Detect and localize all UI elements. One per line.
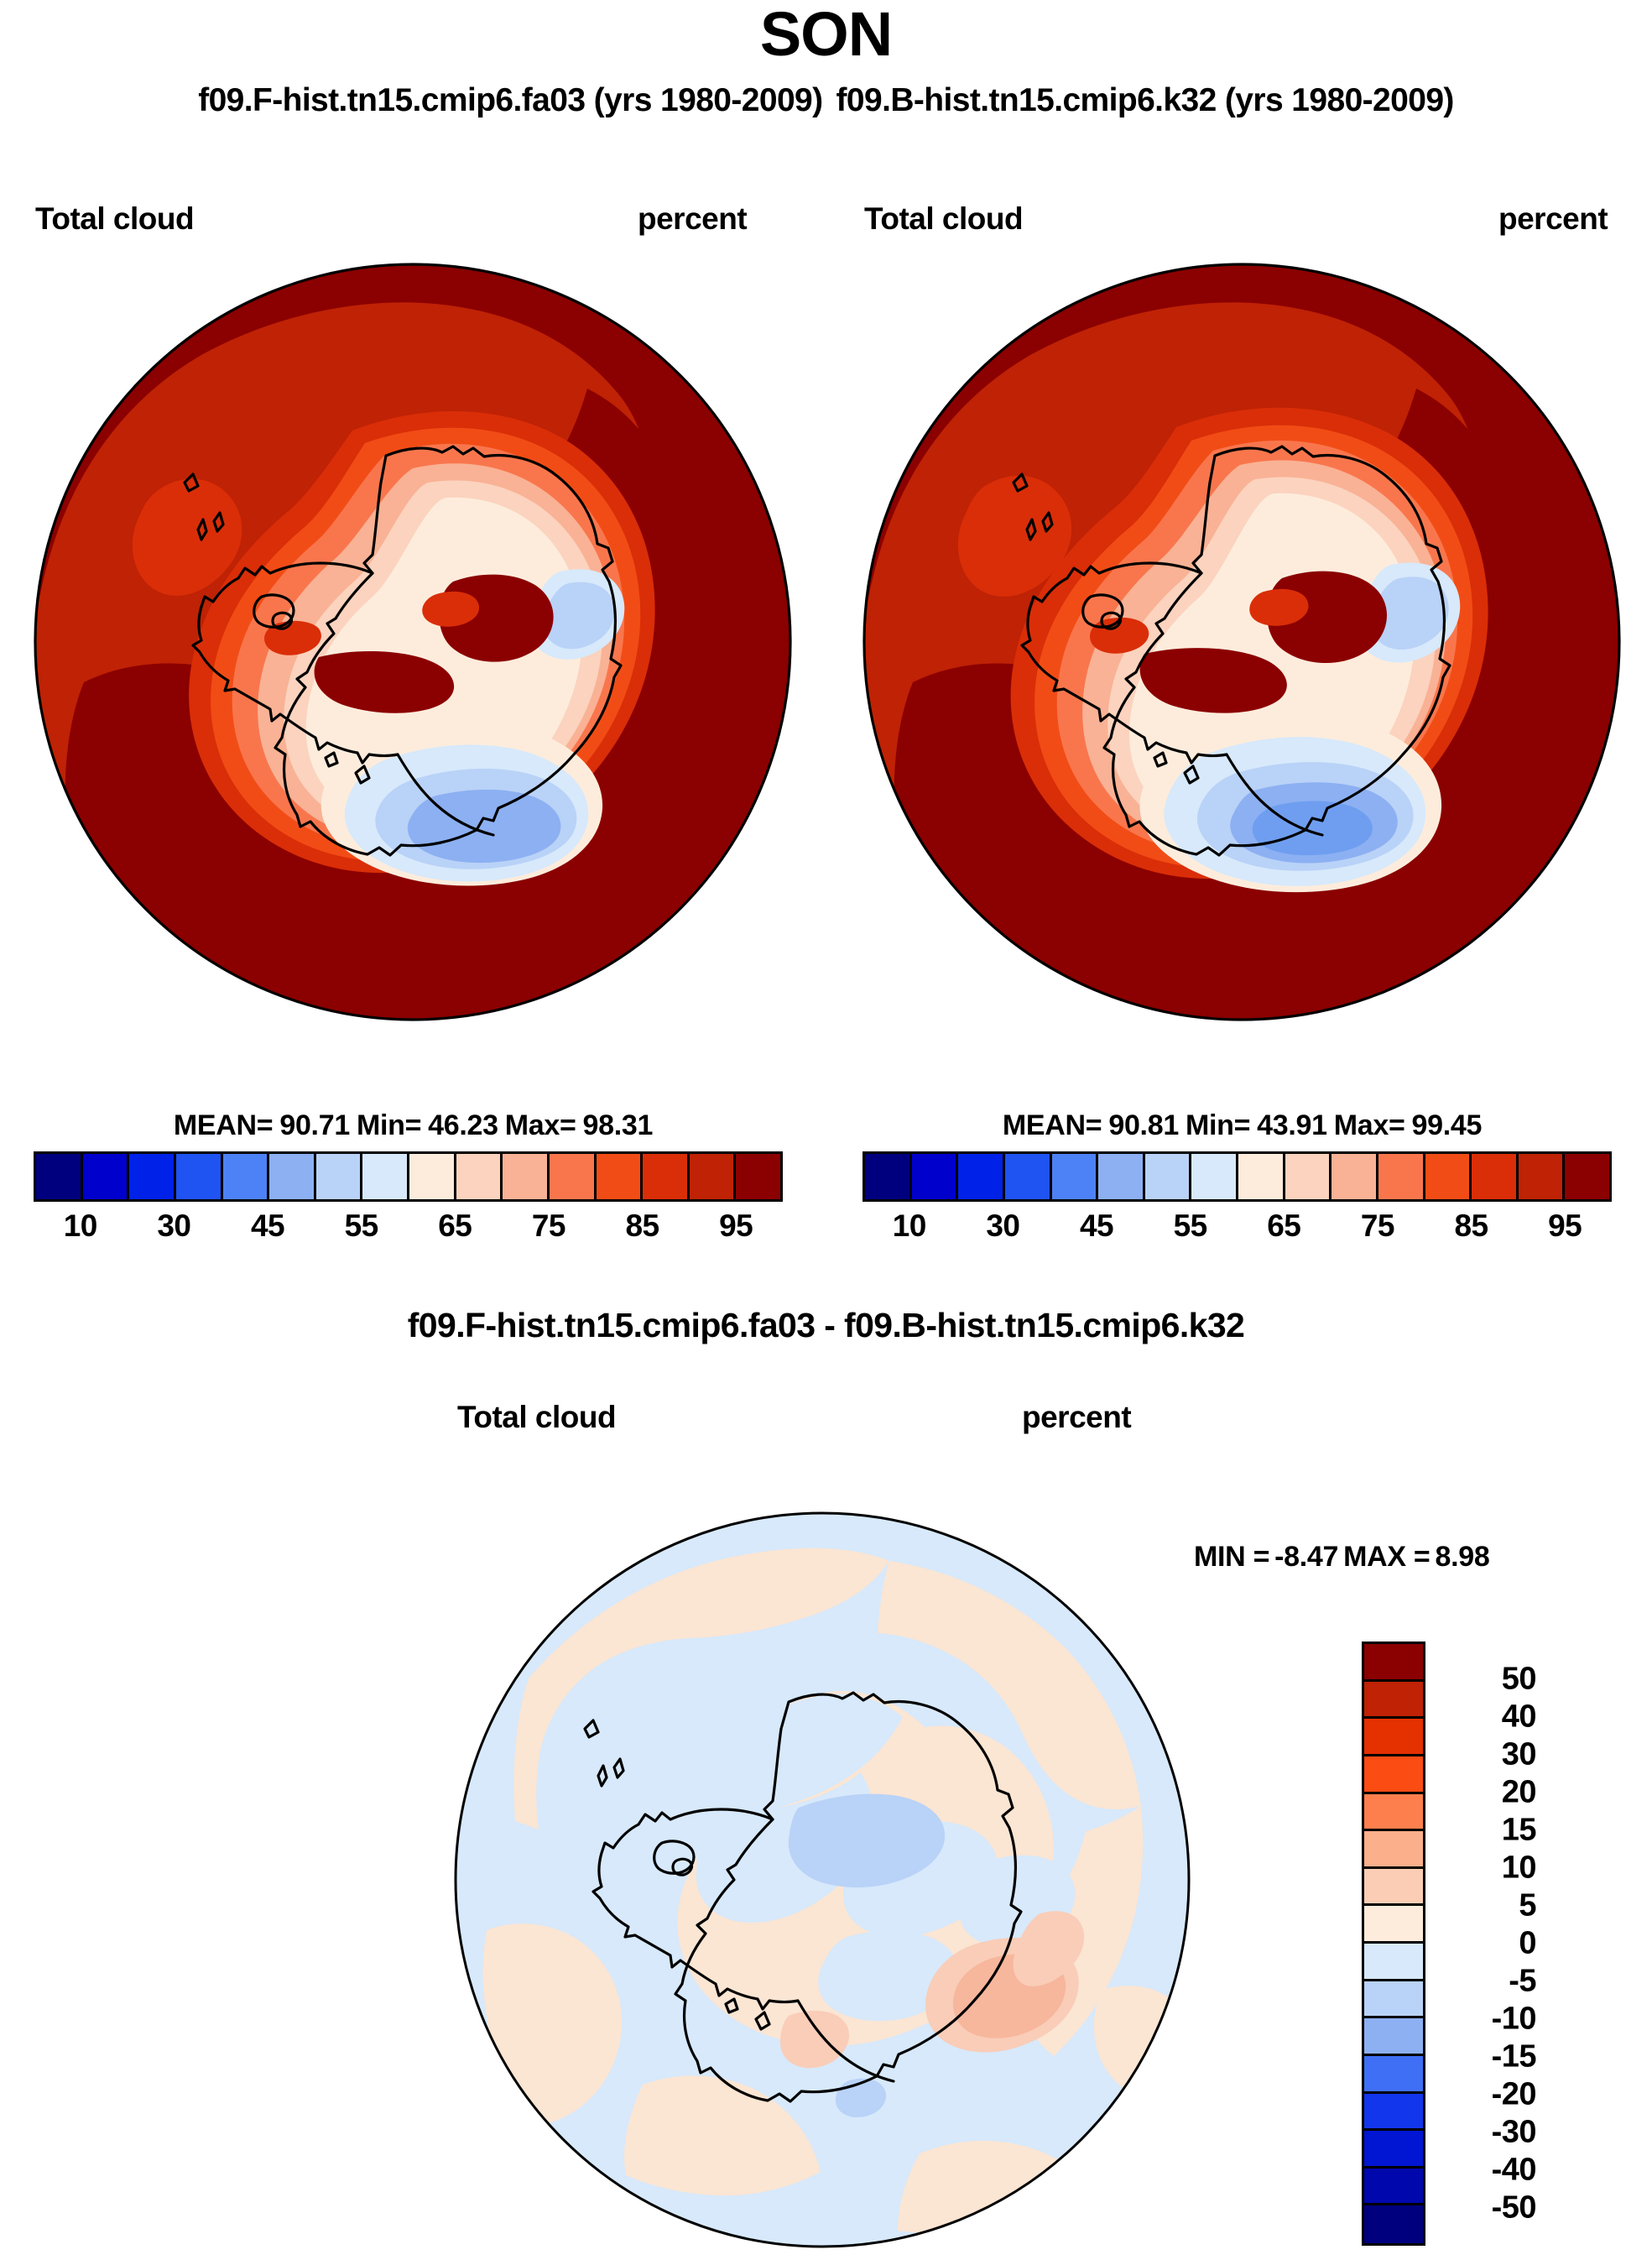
colorbar-cell bbox=[36, 1154, 83, 1199]
panel-a-mean-value: 90.71 bbox=[279, 1109, 350, 1141]
colorbar-tick-label: 30 bbox=[157, 1208, 190, 1244]
panel-b-max-value: 99.45 bbox=[1412, 1109, 1483, 1141]
colorbar-tick-label: -50 bbox=[1436, 2190, 1536, 2226]
colorbar-tick-label: 75 bbox=[1361, 1208, 1394, 1244]
colorbar-tick-label: 40 bbox=[1436, 1699, 1536, 1735]
colorbar-tick-label: 65 bbox=[1267, 1208, 1300, 1244]
colorbar-tick-label: 85 bbox=[625, 1208, 659, 1244]
colorbar-cell bbox=[1191, 1154, 1238, 1199]
panel-b-units-label: percent bbox=[1498, 201, 1608, 237]
colorbar-cell bbox=[1519, 1154, 1566, 1199]
colorbar-difference-ticks: 50403020151050-5-10-15-20-30-40-50 bbox=[1436, 1642, 1603, 2246]
colorbar-tick-label: 95 bbox=[719, 1208, 753, 1244]
colorbar-cell bbox=[1565, 1154, 1609, 1199]
colorbar-tick-label: 10 bbox=[64, 1208, 97, 1244]
colorbar-cell bbox=[1425, 1154, 1472, 1199]
colorbar-tick-label: -5 bbox=[1436, 1964, 1536, 2000]
colorbar-cell bbox=[1364, 1869, 1423, 1907]
colorbar-cell bbox=[129, 1154, 176, 1199]
case-a-title: f09.F-hist.tn15.cmip6.fa03 (yrs 1980-200… bbox=[198, 82, 822, 118]
colorbar-cell bbox=[1364, 1756, 1423, 1794]
colorbar-cell bbox=[409, 1154, 456, 1199]
colorbar-tick-label: 30 bbox=[1436, 1737, 1536, 1773]
colorbar-tick-label: 50 bbox=[1436, 1662, 1536, 1698]
panel-b-min-label: Min= bbox=[1186, 1109, 1250, 1141]
colorbar-tick-label: 65 bbox=[438, 1208, 472, 1244]
panel-b-max-label: Max= bbox=[1334, 1109, 1405, 1141]
panel-a-units-label: percent bbox=[638, 201, 747, 237]
colorbar-cell bbox=[1364, 2094, 1423, 2132]
colorbar-tick-label: 75 bbox=[532, 1208, 565, 1244]
colorbar-cell bbox=[912, 1154, 959, 1199]
colorbar-cell bbox=[1364, 1794, 1423, 1832]
difference-minmax: MIN =-8.47MAX =8.98 bbox=[1191, 1541, 1492, 1574]
colorbar-case-a-cells bbox=[34, 1151, 783, 1202]
diff-max-value: 8.98 bbox=[1435, 1541, 1489, 1573]
colorbar-cell bbox=[1052, 1154, 1099, 1199]
colorbar-cell bbox=[1005, 1154, 1052, 1199]
diff-variable-label: Total cloud bbox=[457, 1400, 616, 1435]
colorbar-tick-label: 15 bbox=[1436, 1813, 1536, 1849]
colorbar-cell bbox=[1098, 1154, 1145, 1199]
panel-b-stats: MEAN=90.81Min=43.91Max=99.45 bbox=[862, 1109, 1622, 1142]
map-case-b bbox=[862, 263, 1622, 1022]
colorbar-tick-label: 0 bbox=[1436, 1926, 1536, 1962]
colorbar-tick-label: -40 bbox=[1436, 2153, 1536, 2189]
colorbar-cell bbox=[1364, 1831, 1423, 1869]
map-case-a bbox=[34, 263, 793, 1022]
colorbar-tick-label: 45 bbox=[251, 1208, 284, 1244]
colorbar-cell bbox=[1364, 1682, 1423, 1720]
colorbar-cell bbox=[1364, 1906, 1423, 1944]
colorbar-cell bbox=[958, 1154, 1005, 1199]
colorbar-tick-label: 30 bbox=[986, 1208, 1019, 1244]
colorbar-tick-label: 10 bbox=[1436, 1850, 1536, 1887]
colorbar-cell bbox=[1472, 1154, 1519, 1199]
panel-a-mean-label: MEAN= bbox=[174, 1109, 273, 1141]
diff-min-label: MIN = bbox=[1194, 1541, 1269, 1573]
colorbar-cell bbox=[1364, 2018, 1423, 2056]
panel-a-max-value: 98.31 bbox=[583, 1109, 654, 1141]
colorbar-tick-label: 20 bbox=[1436, 1775, 1536, 1811]
colorbar-cell bbox=[269, 1154, 316, 1199]
diff-min-value: -8.47 bbox=[1274, 1541, 1338, 1573]
panel-b-mean-label: MEAN= bbox=[1003, 1109, 1102, 1141]
diff-max-label: MAX = bbox=[1343, 1541, 1430, 1573]
colorbar-cell bbox=[1364, 1981, 1423, 2019]
case-titles-row: f09.F-hist.tn15.cmip6.fa03 (yrs 1980-200… bbox=[0, 82, 1652, 119]
panel-a-min-value: 46.23 bbox=[428, 1109, 498, 1141]
colorbar-cell bbox=[1364, 2056, 1423, 2094]
colorbar-cell bbox=[83, 1154, 130, 1199]
colorbar-tick-label: 55 bbox=[345, 1208, 378, 1244]
difference-title: f09.F-hist.tn15.cmip6.fa03 - f09.B-hist.… bbox=[0, 1306, 1652, 1345]
colorbar-cell bbox=[1364, 1719, 1423, 1756]
colorbar-cell bbox=[176, 1154, 223, 1199]
colorbar-tick-label: 85 bbox=[1454, 1208, 1488, 1244]
colorbar-cell bbox=[1285, 1154, 1332, 1199]
panel-b-min-value: 43.91 bbox=[1257, 1109, 1327, 1141]
colorbar-cell bbox=[1364, 1944, 1423, 1981]
panel-a-variable-label: Total cloud bbox=[35, 201, 194, 237]
colorbar-cell bbox=[690, 1154, 737, 1199]
colorbar-cell bbox=[316, 1154, 363, 1199]
colorbar-cell bbox=[550, 1154, 597, 1199]
map-difference bbox=[453, 1511, 1191, 2249]
colorbar-cell bbox=[643, 1154, 690, 1199]
panel-a-min-label: Min= bbox=[357, 1109, 421, 1141]
colorbar-case-b-cells bbox=[862, 1151, 1612, 1202]
colorbar-cell bbox=[597, 1154, 644, 1199]
colorbar-tick-label: 45 bbox=[1080, 1208, 1113, 1244]
colorbar-cell bbox=[503, 1154, 550, 1199]
colorbar-cell bbox=[1238, 1154, 1285, 1199]
colorbar-case-a-ticks: 1030455565758595 bbox=[34, 1208, 783, 1249]
colorbar-cell bbox=[1364, 1644, 1423, 1682]
colorbar-tick-label: 10 bbox=[893, 1208, 926, 1244]
colorbar-case-b: 1030455565758595 bbox=[862, 1151, 1612, 1249]
colorbar-cell bbox=[1378, 1154, 1425, 1199]
colorbar-cell bbox=[1332, 1154, 1378, 1199]
colorbar-case-b-ticks: 1030455565758595 bbox=[862, 1208, 1612, 1249]
panel-a-stats: MEAN=90.71Min=46.23Max=98.31 bbox=[34, 1109, 793, 1142]
colorbar-tick-label: -15 bbox=[1436, 2039, 1536, 2075]
map-case-a-svg bbox=[34, 263, 793, 1022]
colorbar-cell bbox=[736, 1154, 780, 1199]
colorbar-cell bbox=[223, 1154, 270, 1199]
map-case-b-svg bbox=[862, 263, 1622, 1022]
colorbar-cell bbox=[1364, 2131, 1423, 2169]
colorbar-cell bbox=[456, 1154, 503, 1199]
colorbar-case-a: 1030455565758595 bbox=[34, 1151, 783, 1249]
panel-b-variable-label: Total cloud bbox=[864, 201, 1023, 237]
map-difference-svg bbox=[453, 1511, 1191, 2249]
colorbar-tick-label: 95 bbox=[1548, 1208, 1582, 1244]
colorbar-tick-label: 55 bbox=[1174, 1208, 1207, 1244]
page-title: SON bbox=[0, 2, 1652, 67]
colorbar-cell bbox=[362, 1154, 409, 1199]
colorbar-cell bbox=[1364, 2169, 1423, 2206]
colorbar-difference-cells bbox=[1362, 1642, 1425, 2246]
colorbar-tick-label: 5 bbox=[1436, 1888, 1536, 1924]
colorbar-cell bbox=[865, 1154, 912, 1199]
colorbar-difference: 50403020151050-5-10-15-20-30-40-50 bbox=[1362, 1642, 1639, 2251]
diff-units-label: percent bbox=[1022, 1400, 1131, 1435]
case-b-title: f09.B-hist.tn15.cmip6.k32 (yrs 1980-2009… bbox=[836, 82, 1454, 118]
panel-b-mean-value: 90.81 bbox=[1108, 1109, 1179, 1141]
colorbar-tick-label: -10 bbox=[1436, 2002, 1536, 2038]
colorbar-tick-label: -20 bbox=[1436, 2077, 1536, 2113]
colorbar-tick-label: -30 bbox=[1436, 2115, 1536, 2151]
colorbar-cell bbox=[1145, 1154, 1192, 1199]
panel-a-max-label: Max= bbox=[505, 1109, 576, 1141]
colorbar-cell bbox=[1364, 2205, 1423, 2243]
